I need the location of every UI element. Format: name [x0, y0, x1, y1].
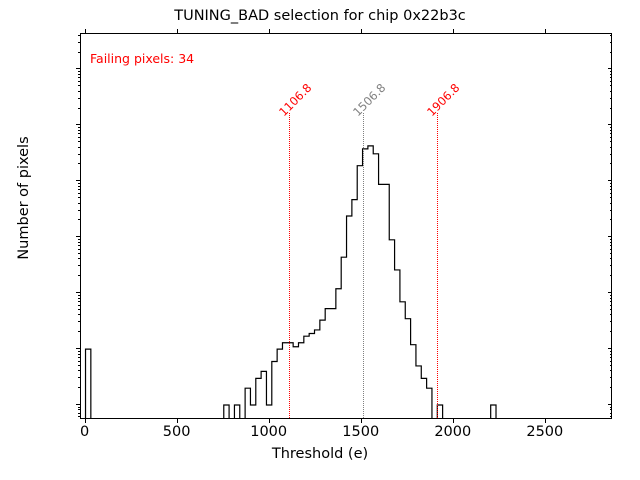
x-tick-label: 1000 — [250, 424, 287, 440]
threshold-line-1106-8 — [289, 113, 290, 419]
threshold-line-1506-8 — [363, 113, 364, 419]
x-tick-label: 2500 — [526, 424, 563, 440]
x-tick-mark — [85, 419, 86, 423]
x-tick-label: 500 — [163, 424, 191, 440]
threshold-line-1906-8 — [437, 113, 438, 419]
x-tick-mark — [177, 419, 178, 423]
failing-pixels-annotation: Failing pixels: 34 — [90, 51, 194, 66]
x-tick-mark — [545, 419, 546, 423]
matplotlib-figure: TUNING_BAD selection for chip 0x22b3c Nu… — [0, 0, 640, 480]
x-tick-label: 2000 — [434, 424, 471, 440]
x-tick-mark — [453, 419, 454, 423]
histogram-curve — [81, 34, 612, 419]
y-axis-label: Number of pixels — [16, 0, 32, 398]
x-tick-label: 1500 — [342, 424, 379, 440]
x-tick-mark — [269, 419, 270, 423]
x-tick-mark — [361, 419, 362, 423]
plot-area — [80, 33, 612, 419]
x-tick-label: 0 — [80, 424, 89, 440]
x-axis-label: Threshold (e) — [0, 446, 640, 462]
page-title: TUNING_BAD selection for chip 0x22b3c — [0, 8, 640, 24]
